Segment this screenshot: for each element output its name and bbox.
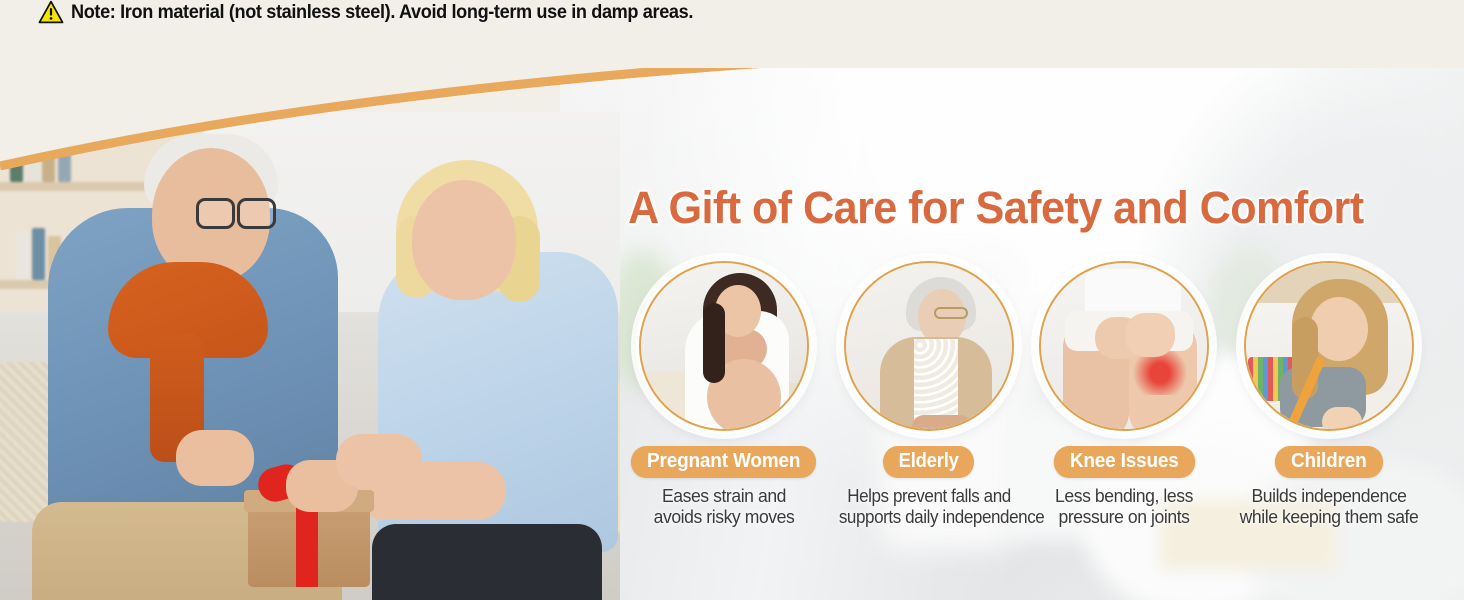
badge-elderly: Elderly (883, 446, 974, 478)
benefit-card-children: Children Builds independence while keepi… (1231, 258, 1427, 527)
circle-photo-knee-issues (1036, 258, 1212, 434)
note-bar: Note: Iron material (not stainless steel… (0, 0, 1464, 68)
desc-line: while keeping them safe (1236, 506, 1422, 527)
headline: A Gift of Care for Safety and Comfort (628, 182, 1364, 234)
hero-photo-elderly-couple (0, 112, 620, 600)
benefit-card-pregnant-women: Pregnant Women Eases strain and avoids r… (626, 258, 822, 527)
description-elderly: Helps prevent falls and supports daily i… (839, 485, 1019, 527)
description-children: Builds independence while keeping them s… (1236, 485, 1422, 527)
desc-line: Less bending, less (1031, 485, 1217, 506)
warning-triangle-icon (38, 0, 64, 24)
badge-children: Children (1275, 446, 1383, 478)
benefit-card-knee-issues: Knee Issues Less bending, less pressure … (1026, 258, 1222, 527)
desc-line: pressure on joints (1031, 506, 1217, 527)
desc-line: avoids risky moves (631, 506, 817, 527)
badge-pregnant-women: Pregnant Women (631, 446, 817, 478)
desc-line: Builds independence (1236, 485, 1422, 506)
product-feature-banner: Note: Iron material (not stainless steel… (0, 0, 1464, 600)
desc-line: Eases strain and (631, 485, 817, 506)
circle-photo-elderly (841, 258, 1017, 434)
description-knee-issues: Less bending, less pressure on joints (1031, 485, 1217, 527)
circle-photo-children (1241, 258, 1417, 434)
benefit-cards: Pregnant Women Eases strain and avoids r… (600, 258, 1464, 558)
circle-photo-pregnant-women (636, 258, 812, 434)
desc-line: Helps prevent falls and (839, 485, 1019, 506)
badge-knee-issues: Knee Issues (1053, 446, 1194, 478)
benefit-card-elderly: Elderly Helps prevent falls and supports… (831, 258, 1027, 527)
description-pregnant-women: Eases strain and avoids risky moves (631, 485, 817, 527)
note-text: Note: Iron material (not stainless steel… (71, 1, 693, 24)
desc-line: supports daily independence (839, 506, 1019, 527)
eyeglasses-icon (196, 198, 276, 223)
